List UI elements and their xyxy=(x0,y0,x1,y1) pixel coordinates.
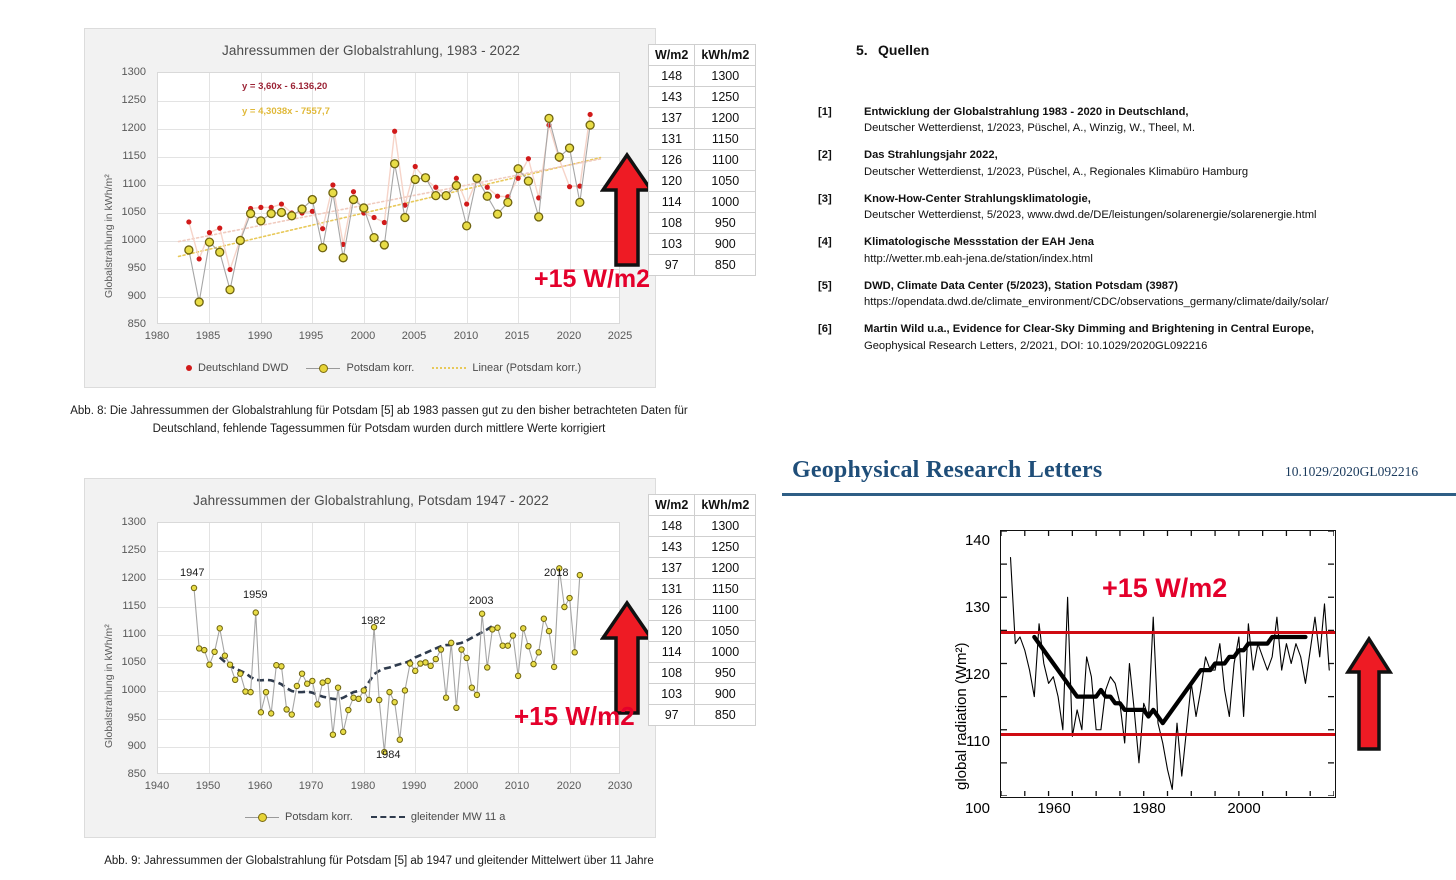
cell-wm2: 137 xyxy=(649,558,695,579)
x-tick: 2000 xyxy=(343,330,383,342)
reference-item: [1] Entwicklung der Globalstrahlung 1983… xyxy=(818,104,1456,136)
reference-detail: Geophysical Research Letters, 2/2021, DO… xyxy=(864,338,1456,354)
figure8-annotation-plus15: +15 W/m2 xyxy=(534,265,650,294)
table-row: 1201050 xyxy=(649,621,756,642)
legend-item-deutschland-dwd: Deutschland DWD xyxy=(186,362,288,374)
table-header-kwhm2: kWh/m2 xyxy=(695,495,756,516)
cell-kwhm2: 950 xyxy=(695,663,756,684)
x-tick: 2010 xyxy=(497,780,537,792)
reference-number: [3] xyxy=(818,191,864,223)
cell-wm2: 114 xyxy=(649,192,695,213)
y-tick: 1300 xyxy=(112,66,146,78)
cell-kwhm2: 1250 xyxy=(695,537,756,558)
reference-detail: Deutscher Wetterdienst, 1/2023, Püschel,… xyxy=(864,164,1456,180)
grl-x-tick: 2000 xyxy=(1214,800,1274,817)
cell-kwhm2: 1300 xyxy=(695,66,756,87)
cell-kwhm2: 1150 xyxy=(695,579,756,600)
reference-detail: Deutscher Wetterdienst, 5/2023, www.dwd.… xyxy=(864,207,1456,223)
cell-wm2: 120 xyxy=(649,621,695,642)
table-header-row: W/m2 kWh/m2 xyxy=(649,45,756,66)
table-header-wm2: W/m2 xyxy=(649,45,695,66)
x-tick: 2025 xyxy=(600,330,640,342)
cell-kwhm2: 1200 xyxy=(695,558,756,579)
sources-section-heading: Quellen xyxy=(878,42,929,58)
reference-title: Martin Wild u.a., Evidence for Clear-Sky… xyxy=(864,321,1456,337)
yellow-dotted-line-icon xyxy=(432,367,466,369)
figure8-title: Jahressummen der Globalstrahlung, 1983 -… xyxy=(85,43,657,58)
figure9-title: Jahressummen der Globalstrahlung, Potsda… xyxy=(85,493,657,508)
cell-wm2: 108 xyxy=(649,213,695,234)
reference-item: [5] DWD, Climate Data Center (5/2023), S… xyxy=(818,278,1456,310)
yellow-marker-line-icon xyxy=(306,368,340,369)
x-tick: 1985 xyxy=(188,330,228,342)
table-row: 1371200 xyxy=(649,108,756,129)
cell-kwhm2: 900 xyxy=(695,234,756,255)
cell-wm2: 97 xyxy=(649,255,695,276)
cell-kwhm2: 850 xyxy=(695,705,756,726)
figure8-legend: Deutschland DWD Potsdam korr. Linear (Po… xyxy=(186,362,581,374)
cell-wm2: 108 xyxy=(649,663,695,684)
y-tick: 1250 xyxy=(112,544,146,556)
x-tick: 2020 xyxy=(549,780,589,792)
cell-kwhm2: 1000 xyxy=(695,192,756,213)
grl-data-plot xyxy=(1001,531,1334,796)
figure9-caption: Abb. 9: Jahressummen der Globalstrahlung… xyxy=(14,853,744,871)
grl-doi: 10.1029/2020GL092216 xyxy=(1285,464,1418,480)
grl-up-arrow-icon xyxy=(1345,636,1393,752)
x-tick: 2020 xyxy=(549,330,589,342)
figure9-annotation-plus15: +15 W/m2 xyxy=(514,701,635,732)
cell-wm2: 131 xyxy=(649,129,695,150)
legend-item-gleitender-mw: gleitender MW 11 a xyxy=(371,811,506,823)
grl-y-tick: 110 xyxy=(956,733,990,750)
y-tick: 1000 xyxy=(112,234,146,246)
y-tick: 850 xyxy=(112,768,146,780)
legend-label: Potsdam korr. xyxy=(285,811,353,823)
grl-y-axis-label: global radiation (Wm²) xyxy=(953,642,970,790)
grl-y-tick: 120 xyxy=(956,666,990,683)
figure8-caption-line2: Deutschland, fehlende Tagessummen für Po… xyxy=(14,421,744,439)
reference-title: Klimatologische Messstation der EAH Jena xyxy=(864,234,1456,250)
cell-kwhm2: 1150 xyxy=(695,129,756,150)
y-tick: 1100 xyxy=(112,628,146,640)
cell-wm2: 120 xyxy=(649,171,695,192)
grl-x-tick: 1980 xyxy=(1119,800,1179,817)
reference-number: [6] xyxy=(818,321,864,353)
cell-kwhm2: 850 xyxy=(695,255,756,276)
cell-kwhm2: 1300 xyxy=(695,516,756,537)
figure8-caption: Abb. 8: Die Jahressummen der Globalstrah… xyxy=(14,403,744,439)
table-row: 1261100 xyxy=(649,150,756,171)
table-row: 1481300 xyxy=(649,66,756,87)
cell-kwhm2: 900 xyxy=(695,684,756,705)
cell-wm2: 131 xyxy=(649,579,695,600)
reference-number: [5] xyxy=(818,278,864,310)
x-tick: 1960 xyxy=(240,780,280,792)
table-row: 1431250 xyxy=(649,87,756,108)
figure9-unit-table: W/m2 kWh/m2 1481300 1431250 1371200 1311… xyxy=(648,494,756,726)
figure9-point-label-1959: 1959 xyxy=(243,589,267,601)
cell-wm2: 103 xyxy=(649,234,695,255)
x-tick: 2000 xyxy=(446,780,486,792)
grl-reference-line-lower xyxy=(1001,733,1335,736)
legend-label: Deutschland DWD xyxy=(198,362,288,374)
table-row: 1141000 xyxy=(649,642,756,663)
cell-kwhm2: 1050 xyxy=(695,621,756,642)
grl-reference-line-upper xyxy=(1001,631,1335,634)
reference-body: DWD, Climate Data Center (5/2023), Stati… xyxy=(864,278,1456,310)
cell-wm2: 97 xyxy=(649,705,695,726)
reference-title: DWD, Climate Data Center (5/2023), Stati… xyxy=(864,278,1456,294)
x-tick: 2005 xyxy=(394,330,434,342)
legend-label: Potsdam korr. xyxy=(346,362,414,374)
reference-number: [4] xyxy=(818,234,864,266)
y-tick: 1200 xyxy=(112,572,146,584)
legend-label: Linear (Potsdam korr.) xyxy=(472,362,581,374)
reference-item: [4] Klimatologische Messstation der EAH … xyxy=(818,234,1456,266)
reference-detail-link[interactable]: http://wetter.mb.eah-jena.de/station/ind… xyxy=(864,251,1456,267)
y-tick: 1300 xyxy=(112,516,146,528)
y-tick: 900 xyxy=(112,290,146,302)
cell-wm2: 143 xyxy=(649,537,695,558)
table-row: 97850 xyxy=(649,705,756,726)
cell-kwhm2: 1050 xyxy=(695,171,756,192)
table-header-row: W/m2 kWh/m2 xyxy=(649,495,756,516)
cell-wm2: 148 xyxy=(649,66,695,87)
legend-item-potsdam-korr: Potsdam korr. xyxy=(245,811,353,823)
table-row: 1371200 xyxy=(649,558,756,579)
grl-plot-area xyxy=(1000,530,1336,798)
reference-title: Entwicklung der Globalstrahlung 1983 - 2… xyxy=(864,104,1456,120)
cell-kwhm2: 1100 xyxy=(695,150,756,171)
figure9-legend: Potsdam korr. gleitender MW 11 a xyxy=(245,811,505,823)
reference-title: Know-How-Center Strahlungsklimatologie, xyxy=(864,191,1456,207)
y-tick: 1150 xyxy=(112,600,146,612)
y-tick: 1200 xyxy=(112,122,146,134)
reference-body: Klimatologische Messstation der EAH Jena… xyxy=(864,234,1456,266)
grl-y-tick: 130 xyxy=(956,599,990,616)
reference-body: Martin Wild u.a., Evidence for Clear-Sky… xyxy=(864,321,1456,353)
grl-divider xyxy=(782,493,1456,496)
cell-wm2: 148 xyxy=(649,516,695,537)
figure9-point-label-2003: 2003 xyxy=(469,595,493,607)
reference-item: [6] Martin Wild u.a., Evidence for Clear… xyxy=(818,321,1456,353)
figure9-data-plot xyxy=(158,523,620,774)
sources-list: [1] Entwicklung der Globalstrahlung 1983… xyxy=(818,104,1456,365)
figure9-point-label-1982: 1982 xyxy=(361,615,385,627)
cell-kwhm2: 1200 xyxy=(695,108,756,129)
legend-item-potsdam-korr: Potsdam korr. xyxy=(306,362,414,374)
table-row: 103900 xyxy=(649,684,756,705)
y-tick: 950 xyxy=(112,262,146,274)
table-row: 1201050 xyxy=(649,171,756,192)
table-row: 1481300 xyxy=(649,516,756,537)
cell-wm2: 114 xyxy=(649,642,695,663)
cell-kwhm2: 1000 xyxy=(695,642,756,663)
reference-number: [2] xyxy=(818,147,864,179)
table-row: 1311150 xyxy=(649,579,756,600)
y-tick: 1100 xyxy=(112,178,146,190)
figure9-point-label-1947: 1947 xyxy=(180,567,204,579)
figure8-equation-dwd: y = 3,60x - 6.136,20 xyxy=(242,81,327,92)
table-row: 1311150 xyxy=(649,129,756,150)
x-tick: 2030 xyxy=(600,780,640,792)
figure8-equation-potsdam: y = 4,3038x - 7557,7 xyxy=(242,106,330,117)
cell-kwhm2: 1100 xyxy=(695,600,756,621)
x-tick: 1995 xyxy=(291,330,331,342)
legend-item-linear-potsdam: Linear (Potsdam korr.) xyxy=(432,362,581,374)
y-tick: 850 xyxy=(112,318,146,330)
figure9-up-arrow-icon xyxy=(600,600,654,716)
x-tick: 1970 xyxy=(291,780,331,792)
reference-title: Das Strahlungsjahr 2022, xyxy=(864,147,1456,163)
grl-journal-title: Geophysical Research Letters xyxy=(792,457,1102,484)
cell-wm2: 126 xyxy=(649,150,695,171)
reference-body: Entwicklung der Globalstrahlung 1983 - 2… xyxy=(864,104,1456,136)
dark-dashed-line-icon xyxy=(371,816,405,818)
y-tick: 1150 xyxy=(112,150,146,162)
x-tick: 1980 xyxy=(343,780,383,792)
figure8-unit-table: W/m2 kWh/m2 1481300 1431250 1371200 1311… xyxy=(648,44,756,276)
reference-number: [1] xyxy=(818,104,864,136)
reference-item: [2] Das Strahlungsjahr 2022, Deutscher W… xyxy=(818,147,1456,179)
figure8-unit-table-body: 1481300 1431250 1371200 1311150 1261100 … xyxy=(649,66,756,276)
grl-y-tick: 140 xyxy=(956,532,990,549)
x-tick: 1950 xyxy=(188,780,228,792)
reference-body: Das Strahlungsjahr 2022, Deutscher Wette… xyxy=(864,147,1456,179)
grl-y-tick: 100 xyxy=(956,800,990,817)
figure8-up-arrow-icon xyxy=(600,152,654,268)
cell-wm2: 103 xyxy=(649,684,695,705)
y-tick: 1250 xyxy=(112,94,146,106)
x-tick: 1940 xyxy=(137,780,177,792)
grl-annotation-plus15: +15 W/m2 xyxy=(1102,573,1227,604)
red-dot-icon xyxy=(186,365,192,371)
cell-wm2: 143 xyxy=(649,87,695,108)
x-tick: 1990 xyxy=(240,330,280,342)
x-tick: 1980 xyxy=(137,330,177,342)
table-row: 108950 xyxy=(649,663,756,684)
figure8-y-axis-label: Globalstrahlung in kWh/m² xyxy=(103,174,115,298)
x-tick: 2010 xyxy=(446,330,486,342)
cell-kwhm2: 1250 xyxy=(695,87,756,108)
table-row: 1261100 xyxy=(649,600,756,621)
figure8-caption-line1: Abb. 8: Die Jahressummen der Globalstrah… xyxy=(14,403,744,421)
grl-x-tick: 1960 xyxy=(1024,800,1084,817)
table-header-wm2: W/m2 xyxy=(649,495,695,516)
figure9-plot-area: 1947 1959 1982 2003 2018 1984 xyxy=(157,522,620,774)
figure9-unit-table-body: 1481300 1431250 1371200 1311150 1261100 … xyxy=(649,516,756,726)
table-row: 97850 xyxy=(649,255,756,276)
legend-label: gleitender MW 11 a xyxy=(411,811,506,823)
reference-body: Know-How-Center Strahlungsklimatologie, … xyxy=(864,191,1456,223)
reference-item: [3] Know-How-Center Strahlungsklimatolog… xyxy=(818,191,1456,223)
reference-detail-link[interactable]: https://opendata.dwd.de/climate_environm… xyxy=(864,294,1456,310)
x-tick: 1990 xyxy=(394,780,434,792)
table-row: 1141000 xyxy=(649,192,756,213)
y-tick: 950 xyxy=(112,712,146,724)
reference-detail: Deutscher Wetterdienst, 1/2023, Püschel,… xyxy=(864,120,1456,136)
cell-kwhm2: 950 xyxy=(695,213,756,234)
y-tick: 1050 xyxy=(112,656,146,668)
x-tick: 2015 xyxy=(497,330,537,342)
table-row: 1431250 xyxy=(649,537,756,558)
table-row: 103900 xyxy=(649,234,756,255)
sources-section-number: 5. xyxy=(856,42,868,58)
table-row: 108950 xyxy=(649,213,756,234)
figure9-y-axis-label: Globalstrahlung in kWh/m² xyxy=(103,624,115,748)
figure9-point-label-2018: 2018 xyxy=(544,567,568,579)
y-tick: 1000 xyxy=(112,684,146,696)
yellow-marker-line-icon xyxy=(245,817,279,818)
table-header-kwhm2: kWh/m2 xyxy=(695,45,756,66)
cell-wm2: 126 xyxy=(649,600,695,621)
y-tick: 1050 xyxy=(112,206,146,218)
y-tick: 900 xyxy=(112,740,146,752)
figure9-point-label-1984: 1984 xyxy=(376,749,400,761)
cell-wm2: 137 xyxy=(649,108,695,129)
